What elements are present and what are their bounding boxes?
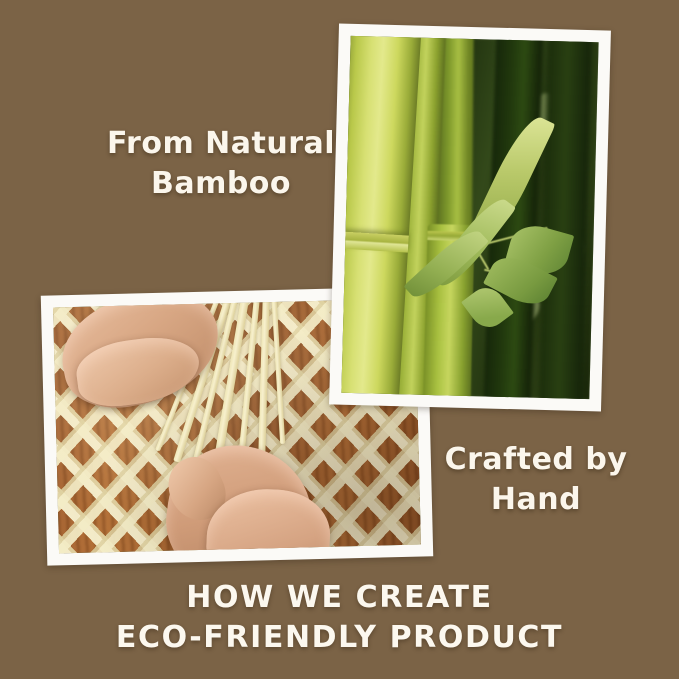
- photo-bamboo-image: [341, 36, 598, 399]
- label-natural-line1: From Natural: [107, 126, 335, 161]
- photo-bamboo-frame: [329, 24, 611, 412]
- headline-line1: HOW WE CREATE: [0, 578, 679, 618]
- label-crafted-line2: Hand: [491, 482, 581, 517]
- poster-canvas: From Natural Bamboo Crafted by Hand HOW …: [0, 0, 679, 679]
- label-natural-line2: Bamboo: [151, 166, 291, 201]
- headline: HOW WE CREATE ECO-FRIENDLY PRODUCT: [0, 578, 679, 658]
- label-crafted-by-hand: Crafted by Hand: [430, 440, 642, 519]
- label-from-natural-bamboo: From Natural Bamboo: [96, 124, 346, 203]
- headline-line2: ECO-FRIENDLY PRODUCT: [0, 618, 679, 658]
- label-crafted-line1: Crafted by: [445, 442, 628, 477]
